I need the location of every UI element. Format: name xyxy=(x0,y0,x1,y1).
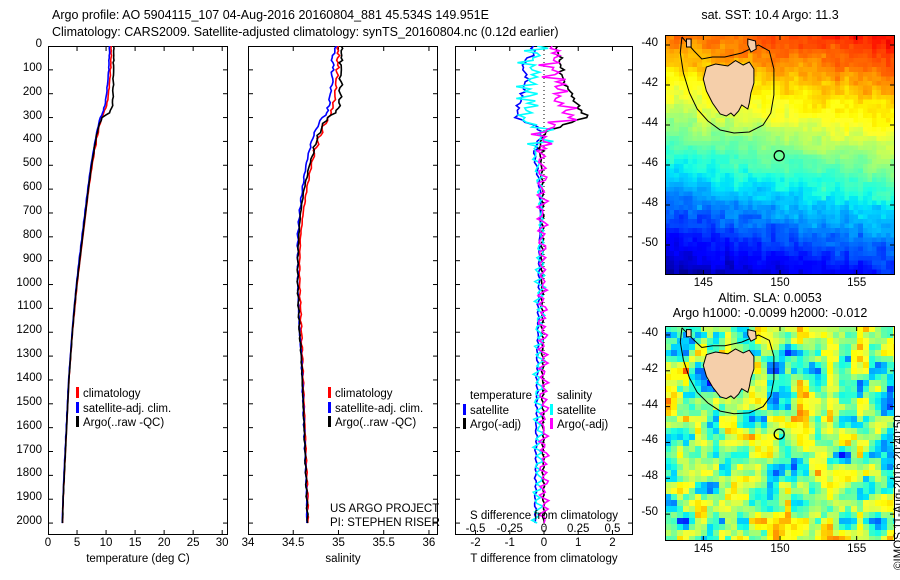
difference-profile-plot xyxy=(455,46,633,535)
sla-map-plot xyxy=(665,326,895,541)
depth-tick-label: 2000 xyxy=(16,515,42,527)
axis-tick-label: -2 xyxy=(470,537,480,549)
depth-tick-label: 300 xyxy=(23,110,42,122)
legend-color-swatch xyxy=(328,402,331,413)
difference-legend: temperaturesatelliteArgo(-adj)salinitysa… xyxy=(463,390,608,433)
depth-tick-label: 1400 xyxy=(16,372,42,384)
legend-item: satellite xyxy=(550,404,608,419)
axis-tick-label: 0 xyxy=(541,537,547,549)
temperature-difference-axis-ticks: -2-1012 xyxy=(455,537,633,553)
axis-tick-label: 145 xyxy=(694,543,713,555)
temperature-axis-label: temperature (deg C) xyxy=(48,553,228,565)
legend-item: Argo(-adj) xyxy=(463,418,532,433)
axis-tick-label: 35.5 xyxy=(373,537,395,549)
temperature-profile-plot xyxy=(48,46,228,535)
axis-tick-label: 20 xyxy=(158,537,171,549)
legend-label: satellite xyxy=(557,405,596,417)
sla-map-lon-ticks: 145150155 xyxy=(665,543,895,559)
depth-tick-label: 500 xyxy=(23,157,42,169)
axis-tick-label: 150 xyxy=(770,277,789,289)
depth-tick-label: 1500 xyxy=(16,396,42,408)
axis-tick-label: 34.5 xyxy=(282,537,304,549)
sla-map-title-line1: Altim. SLA: 0.0053 xyxy=(640,291,900,305)
axis-tick-label: 0.25 xyxy=(567,523,589,535)
lat-tick-label: -44 xyxy=(641,399,658,411)
legend-label: climatology xyxy=(335,388,393,400)
axis-tick-label: 5 xyxy=(74,537,80,549)
lat-tick-label: -40 xyxy=(641,327,658,339)
legend-label: climatology xyxy=(83,388,141,400)
legend-item: satellite-adj. clim. xyxy=(76,402,171,417)
axis-tick-label: 0.5 xyxy=(604,523,620,535)
salinity-difference-axis-ticks: -0.5-0.2500.250.5 xyxy=(455,523,633,537)
depth-tick-label: 1600 xyxy=(16,420,42,432)
legend-item: Argo(..raw -QC) xyxy=(76,416,171,431)
legend-group-salinity: salinitysatelliteArgo(-adj) xyxy=(550,390,608,433)
lat-tick-label: -50 xyxy=(641,237,658,249)
depth-tick-label: 1100 xyxy=(17,300,42,312)
legend-label: Argo(..raw -QC) xyxy=(83,417,164,429)
legend-item: Argo(-adj) xyxy=(550,418,608,433)
salinity-axis-ticks: 3434.53535.536 xyxy=(248,537,438,553)
depth-tick-label: 200 xyxy=(23,86,42,98)
lat-tick-label: -40 xyxy=(641,37,658,49)
depth-tick-label: 900 xyxy=(23,253,42,265)
legend-color-swatch xyxy=(76,416,79,427)
lat-tick-label: -48 xyxy=(641,470,658,482)
legend-group-header: salinity xyxy=(550,390,608,404)
axis-tick-label: 0 xyxy=(541,523,547,535)
lat-tick-label: -48 xyxy=(641,197,658,209)
legend-item: climatology xyxy=(76,387,171,402)
salinity-profile-plot xyxy=(248,46,438,535)
page-title-line1: Argo profile: AO 5904115_107 04-Aug-2016… xyxy=(52,8,489,22)
legend-color-swatch xyxy=(463,418,466,429)
depth-axis-ticks-panel1: 0100200300400500600700800900100011001200… xyxy=(0,46,48,535)
axis-tick-label: 0 xyxy=(45,537,51,549)
salinity-legend: climatologysatellite-adj. clim.Argo(..ra… xyxy=(328,387,423,431)
depth-tick-label: 1700 xyxy=(16,444,42,456)
depth-tick-label: 0 xyxy=(36,38,42,50)
lat-tick-label: -46 xyxy=(641,434,658,446)
legend-color-swatch xyxy=(550,404,553,415)
page-title-line2: Climatology: CARS2009. Satellite-adjuste… xyxy=(52,25,559,39)
axis-tick-label: -0.25 xyxy=(497,523,523,535)
legend-group-temperature: temperaturesatelliteArgo(-adj) xyxy=(463,390,532,433)
axis-tick-label: -0.5 xyxy=(466,523,486,535)
sla-map-title-line2: Argo h1000: -0.0099 h2000: -0.012 xyxy=(640,306,900,320)
axis-tick-label: 35 xyxy=(332,537,345,549)
depth-tick-label: 800 xyxy=(23,229,42,241)
axis-tick-label: 1 xyxy=(575,537,581,549)
sst-map-lat-ticks: -40-42-44-46-48-50 xyxy=(630,35,663,275)
legend-label: Argo(-adj) xyxy=(557,419,608,431)
axis-tick-label: 145 xyxy=(694,277,713,289)
sst-map-title: sat. SST: 10.4 Argo: 11.3 xyxy=(640,8,900,22)
legend-color-swatch xyxy=(328,387,331,398)
lat-tick-label: -42 xyxy=(641,77,658,89)
axis-tick-label: 30 xyxy=(216,537,229,549)
temperature-difference-axis-label: T difference from climatology xyxy=(445,553,643,565)
axis-tick-label: -1 xyxy=(505,537,515,549)
depth-tick-label: 1800 xyxy=(16,467,42,479)
imos-credit: ©IMOS 11-Aug-2016 20:40:50 xyxy=(893,415,900,570)
axis-tick-label: 25 xyxy=(187,537,200,549)
axis-tick-label: 2 xyxy=(609,537,615,549)
axis-tick-label: 34 xyxy=(242,537,255,549)
legend-group-header: temperature xyxy=(463,390,532,404)
legend-item: Argo(..raw -QC) xyxy=(328,416,423,431)
legend-label: satellite-adj. clim. xyxy=(83,403,171,415)
temperature-axis-ticks: 051015202530 xyxy=(48,537,228,553)
temperature-legend: climatologysatellite-adj. clim.Argo(..ra… xyxy=(76,387,171,431)
us-argo-project-line1: US ARGO PROJECT xyxy=(330,503,439,515)
depth-tick-label: 1000 xyxy=(16,277,42,289)
depth-tick-label: 1200 xyxy=(16,324,42,336)
lat-tick-label: -44 xyxy=(641,117,658,129)
axis-tick-label: 155 xyxy=(847,543,866,555)
legend-label: Argo(-adj) xyxy=(470,419,521,431)
lat-tick-label: -50 xyxy=(641,506,658,518)
legend-color-swatch xyxy=(550,418,553,429)
depth-tick-label: 600 xyxy=(23,181,42,193)
depth-tick-label: 1900 xyxy=(16,491,42,503)
depth-tick-label: 700 xyxy=(23,205,42,217)
legend-item: climatology xyxy=(328,387,423,402)
sla-map-lat-ticks: -40-42-44-46-48-50 xyxy=(630,326,663,541)
salinity-difference-axis-label: S difference from climatology xyxy=(445,510,643,522)
sst-map-plot xyxy=(665,35,895,275)
depth-tick-label: 100 xyxy=(23,62,42,74)
legend-item: satellite-adj. clim. xyxy=(328,402,423,417)
axis-tick-label: 36 xyxy=(423,537,436,549)
depth-tick-label: 1300 xyxy=(16,348,42,360)
legend-item: satellite xyxy=(463,404,532,419)
lat-tick-label: -42 xyxy=(641,363,658,375)
axis-tick-label: 15 xyxy=(129,537,142,549)
legend-color-swatch xyxy=(76,387,79,398)
legend-label: satellite-adj. clim. xyxy=(335,403,423,415)
depth-tick-label: 400 xyxy=(23,133,42,145)
legend-color-swatch xyxy=(76,402,79,413)
legend-color-swatch xyxy=(328,416,331,427)
axis-tick-label: 155 xyxy=(847,277,866,289)
legend-label: Argo(..raw -QC) xyxy=(335,417,416,429)
us-argo-project-line2: PI: STEPHEN RISER xyxy=(330,517,440,529)
legend-color-swatch xyxy=(463,404,466,415)
axis-tick-label: 150 xyxy=(770,543,789,555)
lat-tick-label: -46 xyxy=(641,157,658,169)
axis-tick-label: 10 xyxy=(100,537,113,549)
legend-label: satellite xyxy=(470,405,509,417)
salinity-axis-label: salinity xyxy=(248,553,438,565)
